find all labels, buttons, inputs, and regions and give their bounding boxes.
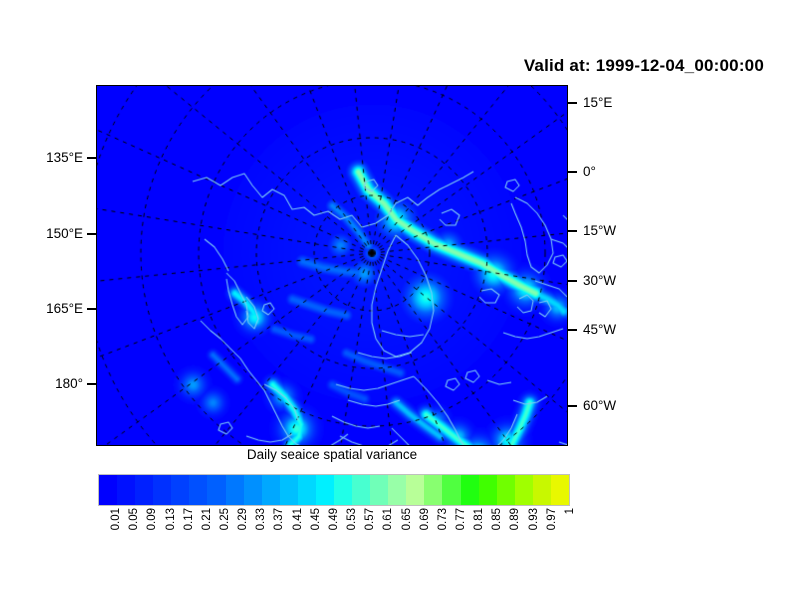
- colorbar-swatch: [298, 475, 316, 505]
- colorbar-tick-label: 0.93: [529, 508, 541, 530]
- colorbar-tick-label: 0.85: [492, 508, 504, 530]
- seaice-variance-heatmap: [97, 86, 567, 445]
- colorbar-tick-label: 0.37: [274, 508, 286, 530]
- right-axis-label: 15°W: [583, 224, 616, 238]
- colorbar-swatch: [99, 475, 117, 505]
- colorbar-tick-labels: 0.010.050.090.130.170.210.250.290.330.37…: [98, 508, 570, 568]
- left-axis-label: 180°: [55, 377, 83, 391]
- right-axis-label: 0°: [583, 165, 596, 179]
- colorbar-swatch: [533, 475, 551, 505]
- right-axis-tick: [568, 329, 577, 331]
- colorbar-swatch: [497, 475, 515, 505]
- colorbar-swatch: [406, 475, 424, 505]
- colorbar-swatch: [442, 475, 460, 505]
- right-axis-tick: [568, 230, 577, 232]
- colorbar-swatch: [461, 475, 479, 505]
- colorbar: [98, 474, 570, 506]
- colorbar-tick-label: 0.97: [547, 508, 559, 530]
- colorbar-swatch: [153, 475, 171, 505]
- colorbar-swatch: [280, 475, 298, 505]
- colorbar-tick-label: 0.45: [311, 508, 323, 530]
- left-axis-label: 165°E: [46, 302, 83, 316]
- colorbar-tick-label: 0.33: [256, 508, 268, 530]
- right-axis-label: 30°W: [583, 274, 616, 288]
- colorbar-tick-label: 0.65: [402, 508, 414, 530]
- colorbar-tick-label: 0.09: [147, 508, 159, 530]
- colorbar-swatch: [388, 475, 406, 505]
- right-axis-label: 45°W: [583, 323, 616, 337]
- colorbar-tick-label: 0.57: [365, 508, 377, 530]
- right-axis-label: 15°E: [583, 96, 612, 110]
- page-title: Valid at: 1999-12-04_00:00:00: [524, 56, 764, 76]
- colorbar-tick-label: 0.21: [202, 508, 214, 530]
- colorbar-swatch: [207, 475, 225, 505]
- colorbar-tick-label: 0.41: [293, 508, 305, 530]
- colorbar-swatch: [117, 475, 135, 505]
- colorbar-swatch: [316, 475, 334, 505]
- colorbar-tick-label: 0.29: [238, 508, 250, 530]
- colorbar-tick-label: 0.25: [220, 508, 232, 530]
- colorbar-tick-label: 0.89: [510, 508, 522, 530]
- colorbar-swatch: [479, 475, 497, 505]
- left-axis-tick: [87, 233, 96, 235]
- colorbar-tick-label: 0.01: [111, 508, 123, 530]
- right-axis-tick: [568, 405, 577, 407]
- right-axis-tick: [568, 102, 577, 104]
- colorbar-caption: Daily seaice spatial variance: [96, 447, 568, 462]
- colorbar-gradient: [98, 474, 570, 506]
- colorbar-swatch: [370, 475, 388, 505]
- colorbar-swatch: [352, 475, 370, 505]
- colorbar-swatch: [135, 475, 153, 505]
- colorbar-tick-label: 0.61: [383, 508, 395, 530]
- colorbar-swatch: [515, 475, 533, 505]
- left-axis-tick: [87, 383, 96, 385]
- colorbar-tick-label: 0.53: [347, 508, 359, 530]
- colorbar-tick-label: 0.73: [438, 508, 450, 530]
- left-axis-label: 135°E: [46, 151, 83, 165]
- colorbar-swatch: [334, 475, 352, 505]
- colorbar-tick-label: 0.69: [420, 508, 432, 530]
- left-axis-tick: [87, 308, 96, 310]
- colorbar-tick-label: 1: [565, 508, 577, 514]
- colorbar-tick-label: 0.77: [456, 508, 468, 530]
- left-axis-tick: [87, 157, 96, 159]
- colorbar-swatch: [189, 475, 207, 505]
- colorbar-swatch: [226, 475, 244, 505]
- left-axis-label: 150°E: [46, 227, 83, 241]
- colorbar-swatch: [171, 475, 189, 505]
- right-axis-tick: [568, 280, 577, 282]
- colorbar-tick-label: 0.13: [166, 508, 178, 530]
- colorbar-swatch: [244, 475, 262, 505]
- colorbar-tick-label: 0.49: [329, 508, 341, 530]
- map-plot-area: [96, 85, 568, 446]
- right-axis-label: 60°W: [583, 399, 616, 413]
- colorbar-swatch: [424, 475, 442, 505]
- colorbar-swatch: [551, 475, 569, 505]
- colorbar-tick-label: 0.05: [129, 508, 141, 530]
- colorbar-tick-label: 0.81: [474, 508, 486, 530]
- right-axis-tick: [568, 171, 577, 173]
- colorbar-swatch: [262, 475, 280, 505]
- colorbar-tick-label: 0.17: [184, 508, 196, 530]
